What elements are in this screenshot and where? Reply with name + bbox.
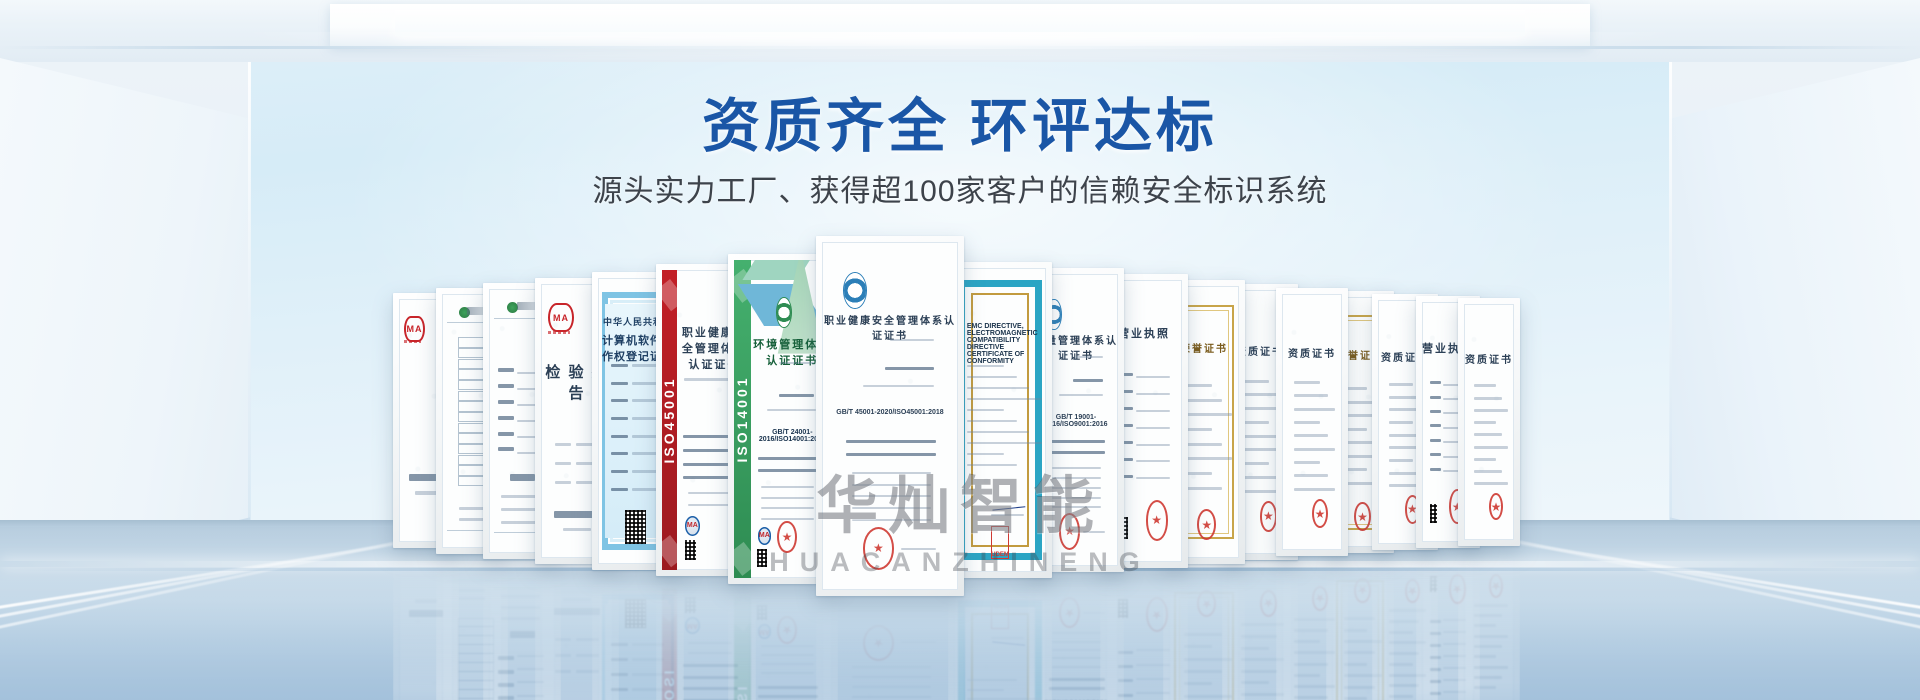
cert-text-line <box>1184 413 1232 416</box>
cert-text-line <box>1136 410 1169 412</box>
cert-text-line <box>967 387 1030 389</box>
cert-text-line <box>1052 467 1101 469</box>
cert-text-line <box>1389 459 1413 462</box>
certifier-seal-icon <box>1059 513 1080 549</box>
cert-text-line <box>555 443 571 446</box>
cert-text-line <box>1294 474 1328 477</box>
cert-heading: 资质证书 <box>1464 351 1514 366</box>
page-title: 资质齐全 环评达标 <box>0 96 1920 158</box>
cert-text-line <box>1049 440 1104 443</box>
cert-text-line <box>1241 421 1269 424</box>
certificate-document: 职业健康安全管理体系认证证书GB/T 45001-2020/ISO45001:2… <box>822 242 958 590</box>
cert-text-line <box>852 507 931 509</box>
cert-text-line <box>1052 497 1101 499</box>
certificate-document: 资质证书 <box>1282 294 1342 550</box>
cert-text-line <box>1083 531 1105 533</box>
cma-logo-subtext <box>404 340 420 343</box>
cert-text-line <box>563 528 592 531</box>
cert-text-line <box>967 442 1042 444</box>
cert-text-line <box>1184 443 1222 446</box>
cert-text-line <box>611 488 629 491</box>
udem-logo-icon: UDEM <box>991 526 1010 558</box>
certificate-frame[interactable]: 资质证书 <box>1458 298 1520 546</box>
cert-seal-icon <box>1312 499 1328 529</box>
cert-text-line <box>1294 488 1335 491</box>
cert-text-line <box>1184 457 1232 460</box>
accreditation-badge-icon <box>685 516 700 536</box>
cert-text-line <box>1241 462 1269 465</box>
cert-text-line <box>1184 487 1222 490</box>
cert-seal-icon <box>1489 493 1503 521</box>
cert-text-line <box>1389 434 1419 437</box>
cert-text-line <box>498 400 514 404</box>
signature <box>989 479 1025 511</box>
certifier-seal-icon <box>863 527 894 569</box>
cert-text-line <box>555 481 571 484</box>
iso45001-spine: ISO45001 <box>662 270 677 570</box>
cert-text-line <box>1474 433 1502 436</box>
cert-text-line <box>1474 421 1496 424</box>
cert-text-line <box>1344 441 1374 444</box>
cert-text-line <box>967 409 1004 411</box>
cert-heading: 职业健康安全管理体系认证证书 <box>822 312 958 342</box>
cert-text-line <box>1389 383 1413 386</box>
cert-text-line <box>611 417 629 420</box>
cert-seal-icon <box>1260 501 1277 531</box>
certificate-frame[interactable]: 职业健康安全管理体系认证证书GB/T 45001-2020/ISO45001:2… <box>816 236 964 596</box>
cma-logo-subtext <box>548 331 570 334</box>
cert-text-line <box>415 491 437 495</box>
cert-text-line <box>761 497 814 499</box>
cert-text-line <box>846 440 936 443</box>
cert-text-line <box>758 469 819 472</box>
cert-text-line <box>498 432 514 436</box>
cert-text-line <box>1294 434 1328 437</box>
cert-text-line <box>1474 482 1508 485</box>
cert-text-line <box>498 447 514 451</box>
cert-text-line <box>611 470 629 473</box>
cert-text-line <box>498 384 514 388</box>
cert-text-line <box>1294 461 1320 464</box>
certificate-frame[interactable]: 资质证书 <box>1276 288 1348 556</box>
cma-logo-icon <box>548 303 574 332</box>
cert-text-line <box>852 519 931 521</box>
cert-text-line <box>1344 482 1374 485</box>
cert-text-line <box>761 518 814 520</box>
cert-text-line <box>611 435 629 438</box>
certifier-seal-icon <box>777 521 797 554</box>
cert-text-line <box>761 486 814 488</box>
certificate-document: 资质证书 <box>1464 304 1514 540</box>
cert-text-line <box>758 457 819 460</box>
ce-heading: EMC DIRECTIVE,ELECTROMAGNETIC COMPATIBIL… <box>967 323 1037 365</box>
cert-text-line <box>1136 393 1169 395</box>
cma-logo-icon <box>404 316 424 342</box>
honor-seal-icon <box>1197 509 1216 540</box>
honor-seal-icon <box>1354 502 1370 531</box>
cert-text-line <box>1430 468 1440 471</box>
cert-text-line <box>1430 439 1440 442</box>
cert-text-line <box>1136 444 1169 446</box>
cert-text-line <box>1430 453 1440 456</box>
cert-text-line <box>1052 487 1101 489</box>
cert-text-line <box>1294 421 1320 424</box>
qr-code <box>685 540 696 560</box>
cert-text-line <box>1241 476 1277 479</box>
cert-text-line <box>1136 427 1169 429</box>
cert-text-line <box>1430 396 1440 399</box>
cert-text-line <box>1184 472 1212 475</box>
cert-text-line <box>967 420 1017 422</box>
cert-text-line <box>967 365 1004 367</box>
cert-text-line <box>991 514 1024 516</box>
cert-text-line <box>1474 446 1508 449</box>
cert-text-line <box>1059 394 1103 396</box>
cert-text-line <box>1430 410 1440 413</box>
cert-text-line <box>555 462 571 465</box>
cert-text-line <box>1294 394 1328 397</box>
cert-text-line <box>1184 399 1222 402</box>
cert-standard: GB/T 45001-2020/ISO45001:2018 <box>822 409 958 416</box>
cert-text-line <box>1389 421 1413 424</box>
cert-text-line <box>1052 477 1101 479</box>
cert-text-line <box>779 394 814 397</box>
page-subtitle: 源头实力工厂、获得超100家客户的信赖安全标识系统 <box>0 174 1920 210</box>
cert-text-line <box>611 452 629 455</box>
cert-text-line <box>1184 384 1212 387</box>
cert-text-line <box>1073 379 1103 382</box>
cert-text-line <box>1076 356 1103 358</box>
cert-text-line <box>967 398 1042 400</box>
accreditation-badge-icon <box>758 527 772 544</box>
cert-text-line <box>779 362 814 364</box>
banner-stage: 检 验 报 告中华人民共和国计算机软件著作权登记证书ISO45001职业健康安全… <box>0 0 1920 700</box>
cert-text-line <box>863 385 934 387</box>
cert-text-line <box>901 548 936 550</box>
cert-text-line <box>1430 424 1440 427</box>
registry-seal-icon <box>1146 500 1168 541</box>
cert-text-line <box>885 367 934 370</box>
cert-text-line <box>611 364 629 367</box>
cnca-seal-icon <box>777 298 791 327</box>
qr-code <box>757 549 768 566</box>
cert-text-line <box>1474 458 1496 461</box>
cert-text-line <box>459 518 485 521</box>
cnca-seal-icon <box>844 273 866 308</box>
cert-text-line <box>852 484 931 486</box>
cert-text-line <box>459 507 485 510</box>
iso45001-label: ISO45001 <box>662 376 677 463</box>
cert-text-line <box>1184 428 1212 431</box>
cert-text-line <box>1344 401 1374 404</box>
cert-text-line <box>1049 451 1104 454</box>
cert-text-line <box>1430 381 1440 384</box>
cert-text-line <box>688 492 732 494</box>
qr-code <box>625 510 646 544</box>
cert-text-line <box>1241 435 1277 438</box>
cert-text-line <box>688 504 732 506</box>
cert-text-line <box>1241 380 1269 383</box>
qr-code <box>1430 504 1437 523</box>
cert-text-line <box>852 472 931 474</box>
cert-text-line <box>967 453 1004 455</box>
cert-text-line <box>498 368 514 372</box>
certificate-document: EMC DIRECTIVE,ELECTROMAGNETIC COMPATIBIL… <box>954 268 1046 572</box>
cert-text-line <box>1474 409 1508 412</box>
iso14001-spine: ISO14001 <box>734 260 751 578</box>
cert-text-line <box>611 382 629 385</box>
cert-text-line <box>510 474 535 481</box>
cert-text-line <box>1474 397 1502 400</box>
cert-text-line <box>967 376 1017 378</box>
cert-text-line <box>1389 472 1419 475</box>
iso14001-label: ISO14001 <box>734 375 750 462</box>
cert-text-line <box>1474 470 1502 473</box>
cert-text-line <box>498 416 514 420</box>
cert-heading: 资质证书 <box>1282 345 1342 360</box>
cert-text-line <box>1294 381 1320 384</box>
headline-block: 资质齐全 环评达标 源头实力工厂、获得超100家客户的信赖安全标识系统 <box>0 96 1920 210</box>
cert-text-line <box>1294 448 1335 451</box>
cert-text-line <box>967 431 1030 433</box>
cert-text-line <box>1136 376 1169 378</box>
cert-text-line <box>1474 384 1496 387</box>
cert-text-line <box>1294 408 1335 411</box>
cert-text-line <box>1389 396 1419 399</box>
cert-text-line <box>611 399 629 402</box>
cert-text-line <box>846 453 936 456</box>
cert-text-line <box>967 464 1017 466</box>
